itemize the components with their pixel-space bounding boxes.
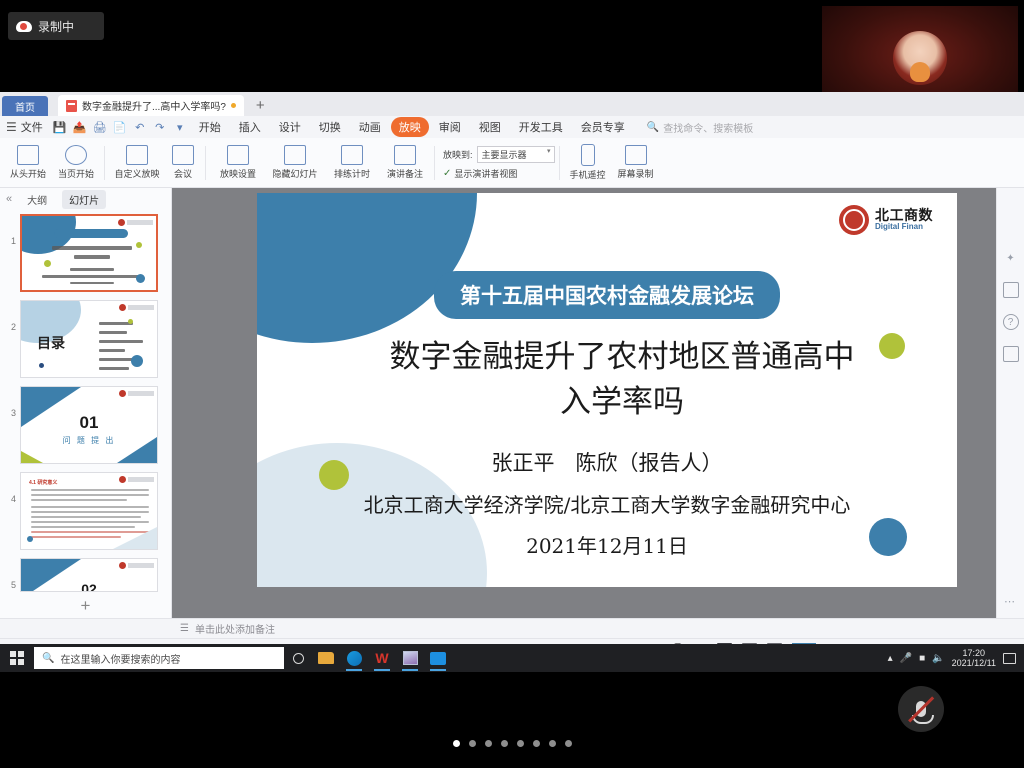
document-tab-bar: 首页 数字金融提升了...高中入学率吗? +: [0, 92, 1024, 116]
print-icon[interactable]: 🖨: [91, 119, 109, 135]
logo-icon: [119, 390, 154, 397]
slide-canvas[interactable]: 北工商数 Digital Finan 第十五届中国农村金融发展论坛 数字金融提升…: [257, 193, 957, 587]
meeting-app-icon[interactable]: [424, 644, 452, 672]
screenshot-icon[interactable]: [1003, 346, 1019, 362]
avatar: [893, 31, 947, 85]
ribbon-button-phone-remote[interactable]: 手机遥控: [564, 140, 612, 186]
picture-frame-icon[interactable]: [1003, 282, 1019, 298]
unsaved-dot-icon: [231, 103, 236, 108]
thumbnail-number: 4: [4, 472, 16, 504]
view-tab-slides[interactable]: 幻灯片: [62, 190, 106, 209]
slide-logo: 北工商数 Digital Finan: [839, 205, 933, 235]
redo-icon[interactable]: ↷: [151, 119, 169, 135]
ribbon-tab-view[interactable]: 视图: [471, 117, 509, 137]
logo-icon: [119, 562, 154, 569]
chevron-up-icon[interactable]: ▴: [888, 653, 893, 664]
dot[interactable]: [453, 740, 460, 747]
menu-bar: ☰ 文件 💾 📤 🖨 📄 ↶ ↷ ▾ 开始 插入 设计 切换 动画 放映 审阅 …: [0, 116, 1024, 138]
dot[interactable]: [501, 740, 508, 747]
decor-dot-olive: [319, 460, 349, 490]
page-indicator-dots[interactable]: [0, 740, 1024, 747]
collapse-panel-icon[interactable]: «: [6, 193, 12, 205]
thumbnail-banner: [54, 229, 128, 238]
recording-label: 录制中: [38, 18, 74, 35]
logo-icon: [118, 219, 153, 226]
ribbon-toolbar: 从头开始 当页开始 自定义放映 会议 放映设置 隐藏幻灯片: [0, 138, 1024, 188]
dot[interactable]: [469, 740, 476, 747]
thumbnail-title: 目录: [37, 333, 65, 353]
thumbnail-number: 1: [4, 214, 16, 246]
windows-start-icon[interactable]: [0, 651, 34, 665]
photos-icon[interactable]: [396, 644, 424, 672]
thumbnail-section-number: 01: [21, 413, 157, 433]
view-tab-outline[interactable]: 大纲: [20, 190, 54, 209]
thumbnail-slide-3[interactable]: 01 问 题 提 出: [20, 386, 158, 464]
ribbon-button-from-start[interactable]: 从头开始: [4, 140, 52, 186]
clock-time: 17:20: [952, 648, 996, 658]
windows-taskbar: 🔍 在这里输入你要搜索的内容 W ▴ 🎤 ■ 🔈 17:20 2021/12/1…: [0, 644, 1024, 672]
menu-file[interactable]: 文件: [21, 119, 43, 135]
list-item[interactable]: 4 4.1 研究意义: [0, 472, 171, 550]
customize-icon[interactable]: ▾: [171, 119, 189, 135]
pptx-file-icon: [66, 100, 77, 112]
thumbnail-title: 4.1 研究意义: [29, 479, 57, 486]
volume-icon[interactable]: 🔈: [932, 653, 944, 664]
ribbon-button-label: 屏幕录制: [618, 167, 654, 180]
ribbon-button-meeting[interactable]: 会议: [165, 140, 201, 186]
ribbon-button-label: 排练计时: [334, 167, 370, 180]
decor-dot-green: [879, 333, 905, 359]
checkmark-icon: ✓: [443, 168, 451, 179]
command-search-placeholder: 查找命令、搜索模板: [663, 120, 753, 135]
decor-circle-top-left: [257, 193, 477, 343]
cortana-icon[interactable]: [284, 644, 312, 672]
dot[interactable]: [533, 740, 540, 747]
save-as-icon[interactable]: 📤: [71, 119, 89, 135]
meeting-icon: [172, 145, 194, 165]
ribbon-button-custom-show[interactable]: 自定义放映: [109, 140, 165, 186]
recording-badge: 录制中: [8, 12, 104, 40]
ribbon-button-label: 自定义放映: [114, 167, 159, 180]
ribbon-button-hide-slide[interactable]: 隐藏幻灯片: [266, 140, 324, 186]
wps-icon[interactable]: W: [368, 644, 396, 672]
screen-record-icon: [625, 145, 647, 165]
slide-thumbnail-pane: « 大纲 幻灯片 1: [0, 188, 172, 618]
taskbar-search-input[interactable]: 🔍 在这里输入你要搜索的内容: [34, 647, 284, 669]
presenter-view-checkbox[interactable]: ✓ 显示演讲者视图: [443, 167, 555, 180]
dot[interactable]: [485, 740, 492, 747]
dot[interactable]: [517, 740, 524, 747]
hide-slide-icon: [284, 145, 306, 165]
list-item[interactable]: 3 01 问 题 提 出: [0, 386, 171, 464]
ribbon-tab-slideshow[interactable]: 放映: [391, 117, 429, 137]
dot[interactable]: [549, 740, 556, 747]
ribbon-separator: [205, 146, 206, 180]
phone-remote-icon: [581, 144, 595, 166]
mic-muted-button[interactable]: [898, 686, 944, 732]
notes-bar[interactable]: ☰ 单击此处添加备注: [0, 618, 1024, 638]
dot[interactable]: [565, 740, 572, 747]
list-item[interactable]: 5 02: [0, 558, 171, 592]
slide-date: 2021年12月11日: [257, 530, 957, 559]
tab-document-label: 数字金融提升了...高中入学率吗?: [82, 98, 226, 113]
logo-label-cn: 北工商数: [875, 208, 933, 223]
edge-icon[interactable]: [340, 644, 368, 672]
search-icon: 🔍: [647, 122, 659, 133]
logo-icon: [119, 476, 154, 483]
logo-icon: [119, 304, 154, 311]
tab-document[interactable]: 数字金融提升了...高中入学率吗?: [58, 95, 244, 116]
slide-title-line1: 数字金融提升了农村地区普通高中: [390, 339, 855, 375]
slide-authors: 张正平 陈欣（报告人）: [257, 447, 957, 477]
ribbon-button-label: 从头开始: [10, 167, 46, 180]
ribbon-button-label: 会议: [174, 167, 192, 180]
ribbon-button-from-current[interactable]: 当页开始: [52, 140, 100, 186]
display-target-select[interactable]: 主要显示器: [477, 146, 555, 163]
play-from-current-icon: [65, 145, 87, 165]
thumbnail-section-number: 02: [21, 581, 157, 592]
save-icon[interactable]: 💾: [51, 119, 69, 135]
ribbon-tab-transition[interactable]: 切换: [311, 117, 349, 137]
ribbon-button-label: 演讲备注: [387, 167, 423, 180]
decor-dot-blue: [869, 518, 907, 556]
ribbon-tab-review[interactable]: 审阅: [431, 117, 469, 137]
notification-icon[interactable]: [1003, 653, 1016, 664]
thumbnail-slide-1[interactable]: [20, 214, 158, 292]
ribbon-button-label: 隐藏幻灯片: [272, 167, 317, 180]
undo-icon[interactable]: ↶: [131, 119, 149, 135]
thumbnail-slide-4[interactable]: 4.1 研究意义: [20, 472, 158, 550]
hamburger-icon[interactable]: ☰: [6, 120, 17, 134]
search-icon: 🔍: [42, 653, 54, 664]
ribbon-button-label: 手机遥控: [570, 168, 606, 181]
battery-icon[interactable]: ■: [919, 653, 925, 664]
ribbon-button-label: 放映设置: [220, 167, 256, 180]
help-icon[interactable]: ?: [1003, 314, 1019, 330]
clock-date: 2021/12/11: [952, 658, 996, 668]
ribbon-button-screen-record[interactable]: 屏幕录制: [612, 140, 660, 186]
screen-root: 录制中 🎤 王君萍西安石油大学 🎤 正在讲话: 王君萍西安石油大学 🎤 王君萍西…: [0, 0, 1024, 768]
ribbon-separator: [104, 146, 105, 180]
thumbnail-number: 5: [4, 558, 16, 590]
slide-title-line2: 入学率吗: [560, 384, 684, 420]
print-preview-icon[interactable]: 📄: [111, 119, 129, 135]
ribbon-tab-insert[interactable]: 插入: [231, 117, 269, 137]
list-item[interactable]: 2 目录: [0, 300, 171, 378]
ribbon-button-label: 当页开始: [58, 167, 94, 180]
notes-placeholder: 单击此处添加备注: [195, 621, 275, 636]
play-from-start-icon: [17, 145, 39, 165]
slide-affiliation: 北京工商大学经济学院/北京工商大学数字金融研究中心: [257, 489, 957, 518]
thumbnail-pane-header: « 大纲 幻灯片: [0, 188, 171, 210]
list-item[interactable]: 1: [0, 214, 171, 292]
thumbnail-slide-2[interactable]: 目录: [20, 300, 158, 378]
add-slide-button[interactable]: +: [0, 596, 171, 616]
ribbon-display-group: 放映到: 主要显示器 ✓ 显示演讲者视图: [443, 146, 555, 180]
custom-show-icon: [126, 145, 148, 165]
show-settings-icon: [227, 145, 249, 165]
new-tab-button[interactable]: +: [256, 97, 265, 116]
ribbon-button-presenter-notes[interactable]: 演讲备注: [380, 140, 430, 186]
command-search-box[interactable]: 🔍 查找命令、搜索模板: [647, 120, 753, 135]
ribbon-tab-member[interactable]: 会员专享: [573, 117, 633, 137]
ribbon-tab-animation[interactable]: 动画: [351, 117, 389, 137]
ribbon-button-show-settings[interactable]: 放映设置: [210, 140, 266, 186]
logo-label-en: Digital Finan: [875, 223, 933, 232]
thumbnail-slide-5[interactable]: 02: [20, 558, 158, 592]
more-icon[interactable]: ⋯: [1004, 595, 1016, 608]
thumbnail-list[interactable]: 1: [0, 210, 171, 612]
ribbon-tab-design[interactable]: 设计: [271, 117, 309, 137]
taskbar-clock[interactable]: 17:20 2021/12/11: [952, 648, 996, 669]
ribbon-button-rehearse[interactable]: 排练计时: [324, 140, 380, 186]
slide-banner: 第十五届中国农村金融发展论坛: [434, 271, 780, 319]
ribbon-tab-developer[interactable]: 开发工具: [511, 117, 571, 137]
file-explorer-icon[interactable]: [312, 644, 340, 672]
notes-icon: ☰: [180, 623, 189, 634]
shapes-icon[interactable]: ✦: [1003, 250, 1019, 266]
logo-icon: [839, 205, 869, 235]
display-target-label: 放映到:: [443, 148, 473, 161]
ribbon-separator: [559, 146, 560, 180]
wps-presentation-window: 首页 数字金融提升了...高中入学率吗? + ☰ 文件 💾 📤 🖨 📄 ↶ ↷ …: [0, 92, 1024, 644]
presenter-notes-icon: [394, 145, 416, 165]
ribbon-separator: [434, 146, 435, 180]
cloud-record-icon: [16, 21, 32, 32]
slide-title: 数字金融提升了农村地区普通高中 入学率吗: [347, 335, 897, 425]
slide-stage[interactable]: 北工商数 Digital Finan 第十五届中国农村金融发展论坛 数字金融提升…: [172, 188, 996, 618]
taskbar-search-placeholder: 在这里输入你要搜索的内容: [60, 651, 180, 666]
workspace: « 大纲 幻灯片 1: [0, 188, 1024, 618]
thumbnail-number: 3: [4, 386, 16, 418]
system-tray: ▴ 🎤 ■ 🔈 17:20 2021/12/11: [888, 648, 1024, 669]
tab-home[interactable]: 首页: [2, 96, 48, 116]
mic-icon[interactable]: 🎤: [900, 653, 912, 664]
ribbon-tab-start[interactable]: 开始: [191, 117, 229, 137]
presenter-view-label: 显示演讲者视图: [454, 167, 517, 180]
thumbnail-number: 2: [4, 300, 16, 332]
rehearse-timing-icon: [341, 145, 363, 165]
right-sidebar: ✦ ?: [996, 188, 1024, 618]
